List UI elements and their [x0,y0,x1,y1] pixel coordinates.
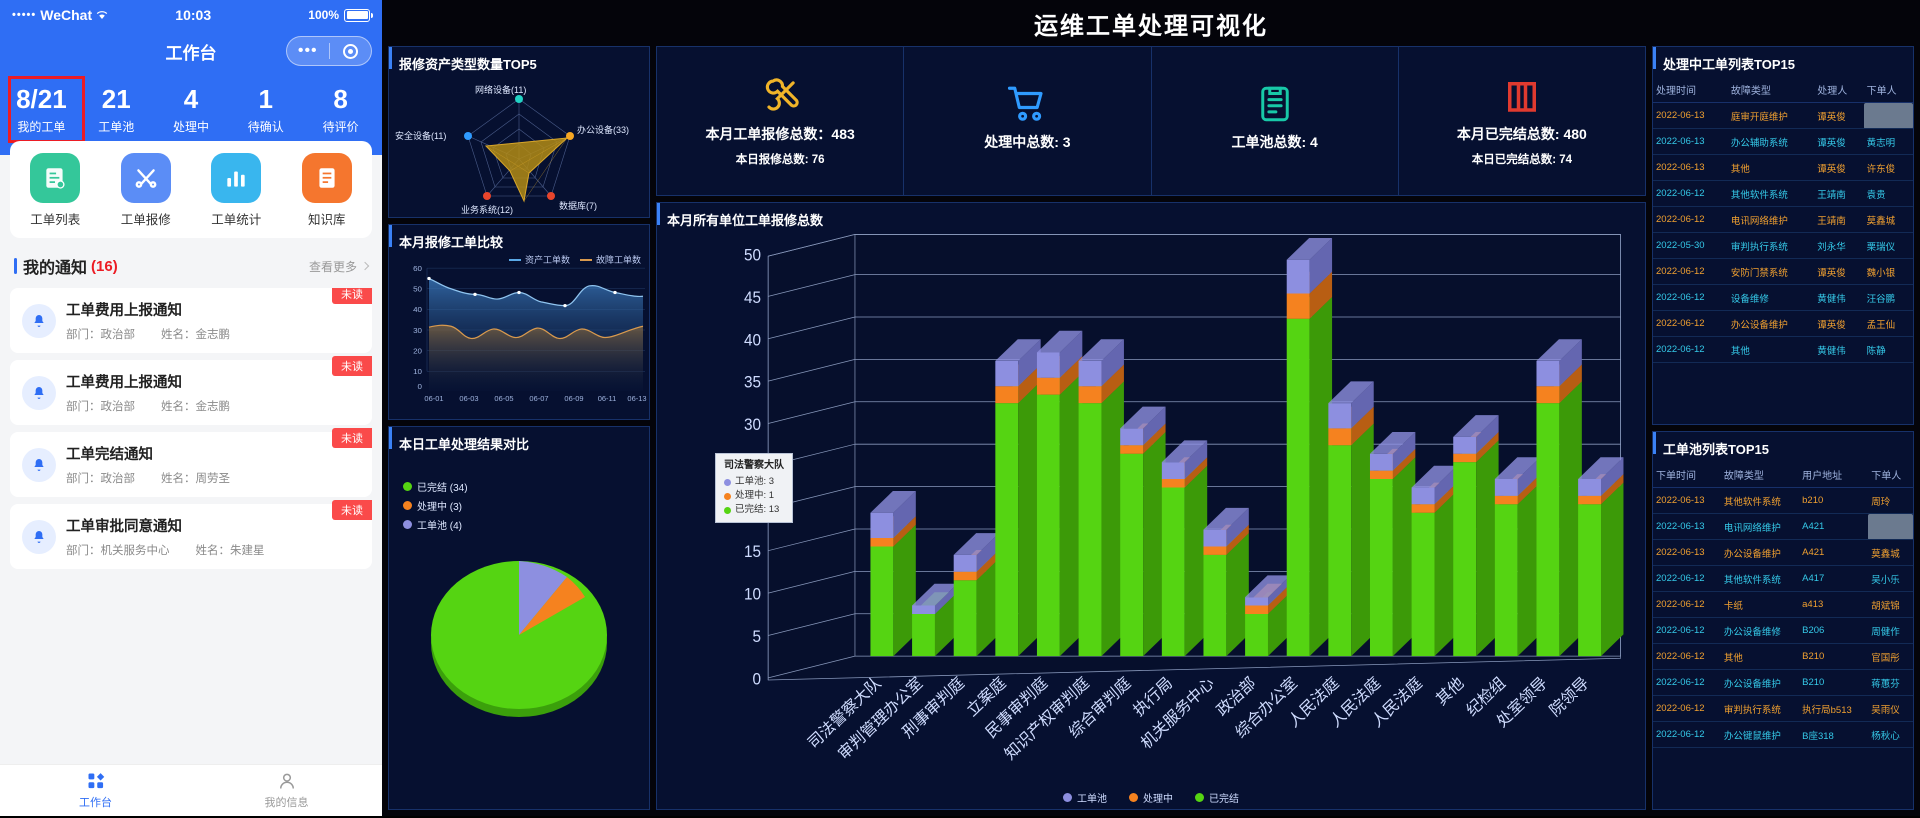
bar-segment [1162,487,1185,656]
tooltip-row: 已完结: 13 [724,503,784,517]
tools-icon [121,153,171,203]
bar-segment [1578,479,1601,496]
view-more-label: 查看更多 [309,258,357,275]
name-value: 金志鹏 [196,401,231,413]
quick-action-label: 工单报修 [101,209,192,228]
dept-field: 部门：机关服务中心 [66,542,170,558]
stat-label: 待确认 [228,118,303,135]
bar-segment [1162,462,1185,479]
stat-value: 8 [303,82,378,116]
svg-text:0: 0 [418,382,422,391]
dashboard: 运维工单处理可视化 报修资产类型数量TOP5 [382,0,1920,816]
table-cell: 审判执行系统 [1721,696,1799,722]
table-cell: 2022-06-13 [1653,103,1728,129]
legend-item-finished: 已完结 (34) [403,479,468,494]
column-header: 故障类型 [1728,77,1814,103]
table-cell: 2022-05-30 [1653,233,1728,259]
table-row[interactable]: 2022-06-12其他黄健伟陈静 [1653,337,1913,363]
table-cell: 莫鑫城 [1868,540,1913,566]
dept-value: 政治部 [101,473,136,485]
page-title: 工作台 [166,39,217,64]
svg-text:06-09: 06-09 [564,394,583,403]
bar-segment [1079,403,1102,656]
name-field: 姓名：金志鹏 [161,326,230,342]
name-value: 周劳圣 [196,473,231,485]
line-title: 本月报修工单比较 [389,225,649,255]
table-cell: 汪谷鹏 [1864,285,1913,311]
stat-pending-review[interactable]: 8 待评价 [303,82,378,135]
tab-bar: 工作台 我的信息 [0,764,382,816]
table-row[interactable]: 2022-06-12审判执行系统执行局b513吴雨仪 [1653,696,1913,722]
phone-mockup: ••••• WeChat 10:03 100% 工作台 ••• 8/21 我的工… [0,0,382,816]
table-cell: 2022-06-12 [1653,285,1728,311]
tab-label: 我的信息 [265,794,309,810]
radar-label-network: 网络设备(11) [475,83,526,96]
table-cell: 2022-06-12 [1653,618,1721,644]
svg-text:40: 40 [744,332,761,350]
table-cell: 王靖南 [1814,207,1863,233]
svg-text:40: 40 [413,305,422,314]
table-cell: 办公设备维护 [1728,311,1814,337]
bar-segment [954,572,977,580]
table-cell: B210 [1799,644,1868,670]
bar-segment [1203,555,1226,656]
table-row[interactable]: 2022-06-12其他软件系统王靖南袁贵 [1653,181,1913,207]
bar-svg: 504540 353025 201510 50 司法警察大队审判管理办公室刑事审… [661,229,1641,805]
stat-label: 待评价 [303,118,378,135]
stat-processing[interactable]: 4 处理中 [154,82,229,135]
quick-action-order-list[interactable]: 工单列表 [10,153,101,228]
bar-segment [912,606,935,614]
stat-value: 4 [154,82,229,116]
battery-icon [344,9,370,22]
table-row[interactable]: 2022-06-13其他软件系统b210周玲 [1653,488,1913,514]
legend-item-processing: 处理中 (3) [403,498,468,513]
table-header-row: 下单时间故障类型用户地址下单人 [1653,462,1913,488]
bar-category-label: 院领导 [1546,673,1592,720]
radar-label-security: 安全设备(11) [395,129,446,142]
table-cell: 王靖南 [1814,181,1863,207]
table-cell: a413 [1799,592,1868,618]
name-label: 姓名： [161,329,196,341]
name-field: 姓名：朱建星 [196,542,265,558]
table-row[interactable]: 2022-06-12卡纸a413胡斌锦 [1653,592,1913,618]
table-cell: 胡斌锦 [1868,592,1913,618]
bar-segment [1370,471,1393,479]
notification-meta: 部门：政治部 姓名：周劳圣 [66,470,230,486]
table-cell: 办公设备维护 [1721,670,1799,696]
bar-segment [1162,479,1185,487]
battery-percent: 100% [308,8,339,22]
bar-segment [1453,454,1476,462]
radar-point-office [566,132,574,140]
table-cell: 2022-06-12 [1653,592,1721,618]
svg-text:45: 45 [744,290,761,308]
pie-legend: 已完结 (34) 处理中 (3) 工单池 (4) [403,479,468,536]
bar-panel: 本月所有单位工单报修总数 [656,202,1646,810]
table-row[interactable]: 2022-05-30审判执行系统刘永华栗瑞仪 [1653,233,1913,259]
tab-label: 工作台 [79,794,112,810]
table-row[interactable]: 2022-06-13电讯网络维护A421车 [1653,514,1913,540]
name-label: 姓名： [161,401,196,413]
document-list-icon [30,153,80,203]
tooltip-label: 工单池: 3 [735,475,774,489]
list-item[interactable]: 工单审批同意通知 部门：机关服务中心 姓名：朱建星 未读 [10,504,372,569]
table-header-row: 处理时间故障类型处理人下单人 [1653,77,1913,103]
legend-item-asset: 资产工单数 [509,253,570,266]
column-header: 处理时间 [1653,77,1728,103]
dashboard-title: 运维工单处理可视化 [388,0,1914,46]
tooltip-title: 司法警察大队 [724,459,784,473]
bar-segment [1287,319,1310,656]
table-cell: 其他软件系统 [1721,488,1799,514]
table-cell: 办公设备维修 [1721,618,1799,644]
tooltip-label: 已完结: 13 [735,503,779,517]
table-cell: 2022-06-13 [1653,540,1721,566]
dashboard-body: 报修资产类型数量TOP5 [388,46,1914,810]
table-cell: 2022-06-12 [1653,670,1721,696]
close-target-icon[interactable] [330,44,372,59]
quick-action-repair[interactable]: 工单报修 [101,153,192,228]
svg-text:0: 0 [753,671,762,689]
table-row[interactable]: 2022-06-13办公辅助系统谭英俊黄志明 [1653,129,1913,155]
table-cell: 设备维修 [1728,285,1814,311]
radar-point-security [464,132,472,140]
table-cell: 黄志明 [1864,129,1913,155]
bar-segment [1037,353,1060,378]
table-cell: A421 [1799,540,1868,566]
dashboard-left-column: 报修资产类型数量TOP5 [388,46,650,810]
tab-my-info[interactable]: 我的信息 [191,765,382,816]
bar-segment [1079,386,1102,403]
notifications-count: (16) [91,258,118,275]
table-row[interactable]: 2022-06-12办公设备维护B210蒋蕙芬 [1653,670,1913,696]
table-cell: 蒋蕙芬 [1868,670,1913,696]
list-item-body: 工单完结通知 部门：政治部 姓名：周劳圣 [66,443,230,486]
table-cell: 2022-06-12 [1653,722,1721,748]
bar-segment [995,386,1018,403]
table-cell: 周玲 [1868,488,1913,514]
quick-action-label: 工单统计 [191,209,282,228]
pie-panel: 本日工单处理结果对比 已完结 (34) 处理中 (3) 工单池 (4) [388,426,650,810]
bar-segment [1245,606,1268,614]
notification-meta: 部门：政治部 姓名：金志鹏 [66,398,230,414]
table-cell: 2022-06-12 [1653,181,1728,207]
bar-segment [1495,479,1518,496]
bar-segment [1495,504,1518,656]
kpi-processing: 处理中总数: 3 [904,47,1151,195]
radar-chart: 网络设备(11) 办公设备(33) 数据库(7) 业务系统(12) 安全设备(1… [389,77,649,225]
bar-segment [1453,462,1476,656]
table-cell: 吴小乐 [1868,566,1913,592]
bar-segment [1328,445,1351,656]
table-row[interactable]: 2022-06-12设备维修黄健伟汪谷鹏 [1653,285,1913,311]
notifications-list: 工单费用上报通知 部门：政治部 姓名：金志鹏 未读 工单费用上报通知 部门：政治… [0,288,382,764]
radar-label-business: 业务系统(12) [461,203,513,216]
table-cell: 谭英俊 [1814,103,1863,129]
bar-segment [1245,597,1268,605]
list-item[interactable]: 工单费用上报通知 部门：政治部 姓名：金志鹏 未读 [10,360,372,425]
bar-category-label: 机关服务中心 [1138,674,1218,753]
column-header: 下单时间 [1653,462,1721,488]
table-cell: 电讯网络维护 [1728,207,1814,233]
kpi-primary: 本月工单报修总数：483 [705,124,854,144]
table-cell: 其他软件系统 [1721,566,1799,592]
user-icon [277,771,297,791]
radar-label-database: 数据库(7) [559,199,597,212]
table-row[interactable]: 2022-06-12办公设备维修B206周健作 [1653,618,1913,644]
table-cell: 电讯网络维护 [1721,514,1799,540]
view-more-link[interactable]: 查看更多 [309,258,368,275]
bar-segment [1370,454,1393,471]
bar-segment [1120,454,1143,656]
table-cell: 2022-06-13 [1653,129,1728,155]
legend-label: 处理中 (3) [417,498,462,513]
more-icon[interactable]: ••• [287,46,329,56]
tooltip-row: 处理中: 1 [724,489,784,503]
table-cell: 杨秋心 [1868,722,1913,748]
line-svg: 605040 302010 0 [389,255,649,405]
bar-segment [870,538,893,546]
status-time: 10:03 [78,7,308,23]
list-item[interactable]: 工单完结通知 部门：政治部 姓名：周劳圣 未读 [10,432,372,497]
bar-segment [1287,260,1310,294]
bar-segment [1601,483,1623,657]
bar-segment [1203,530,1226,547]
legend-label: 工单池 [1077,790,1107,805]
cart-icon [1006,83,1048,125]
dept-value: 政治部 [101,329,136,341]
stat-label: 处理中 [154,118,229,135]
bar-segment [1037,378,1060,395]
bell-icon [22,448,56,482]
table-cell: 魏小银 [1864,259,1913,285]
list-item[interactable]: 工单费用上报通知 部门：政治部 姓名：金志鹏 未读 [10,288,372,353]
pool-table: 下单时间故障类型用户地址下单人 2022-06-13其他软件系统b210周玲20… [1653,462,1913,748]
svg-text:35: 35 [744,374,761,392]
table-cell: 卡纸 [1721,592,1799,618]
column-header: 故障类型 [1721,462,1799,488]
bell-icon [22,304,56,338]
wechat-capsule[interactable]: ••• [286,36,372,66]
table-cell: 其他 [1721,644,1799,670]
notifications-title: 我的通知 [23,254,87,278]
kpi-secondary: 本日已完结总数: 74 [1472,151,1572,167]
table-cell: B210 [1799,670,1868,696]
legend-item-processing: 处理中 [1129,790,1173,805]
dashboard-right-column: 处理中工单列表TOP15 处理时间故障类型处理人下单人 2022-06-13庭审… [1652,46,1914,810]
table-row[interactable]: 2022-06-12电讯网络维护王靖南莫鑫城 [1653,207,1913,233]
dept-label: 部门： [66,401,101,413]
table-cell: 黄健伟 [1814,337,1863,363]
table-cell: 2022-06-12 [1653,696,1721,722]
tab-workbench[interactable]: 工作台 [0,765,191,816]
stat-value: 1 [228,82,303,116]
column-header: 下单人 [1864,77,1913,103]
notification-title: 工单费用上报通知 [66,371,230,392]
table-cell: 办公键鼠维护 [1721,722,1799,748]
tooltip-label: 处理中: 1 [735,489,774,503]
svg-text:50: 50 [413,285,422,294]
kpi-primary: 本月已完结总数: 480 [1457,124,1587,144]
table-cell: b210 [1799,488,1868,514]
bar-segment [1412,504,1435,512]
notification-meta: 部门：机关服务中心 姓名：朱建星 [66,542,265,558]
bar-segment [870,513,893,538]
svg-text:60: 60 [413,264,422,273]
legend-label: 资产工单数 [525,253,570,266]
table-cell: 办公设备维护 [1721,540,1799,566]
book-icon [302,153,352,203]
wrench-icon [759,75,801,117]
list-item-body: 工单审批同意通知 部门：机关服务中心 姓名：朱建星 [66,515,265,558]
table-cell: 2022-06-12 [1653,207,1728,233]
svg-text:06-03: 06-03 [459,394,478,403]
dept-value: 机关服务中心 [101,545,170,557]
dept-field: 部门：政治部 [66,398,135,414]
svg-text:06-01: 06-01 [424,394,443,403]
table-cell: 孟王仙 [1864,311,1913,337]
table-row[interactable]: 2022-06-12办公键鼠维护B座318杨秋心 [1653,722,1913,748]
kpi-primary: 处理中总数: 3 [984,132,1070,152]
bar-segment [1287,293,1310,318]
column-header: 用户地址 [1799,462,1868,488]
notifications-header: 我的通知 (16) 查看更多 [0,238,382,288]
status-badge: 未读 [332,356,372,376]
bar-segment [995,361,1018,386]
bar-segment [1453,437,1476,454]
phone-header: ••••• WeChat 10:03 100% 工作台 ••• 8/21 我的工… [0,0,382,155]
table-cell: 陈静 [1864,337,1913,363]
table-cell: 官国彤 [1868,644,1913,670]
tooltip-row: 工单池: 3 [724,475,784,489]
table2-title: 工单池列表TOP15 [1653,432,1913,462]
quick-action-knowledge[interactable]: 知识库 [282,153,373,228]
table-cell: 莫鑫城 [1864,207,1913,233]
dept-field: 部门：政治部 [66,470,135,486]
svg-text:06-13: 06-13 [627,394,646,403]
table-cell: 2022-06-12 [1653,311,1728,337]
pie-title: 本日工单处理结果对比 [389,427,649,457]
dept-label: 部门： [66,545,101,557]
legend-item-fault: 故障工单数 [580,253,641,266]
trash-icon [1501,75,1543,117]
dashboard-middle-column: 本月工单报修总数：483 本日报修总数: 76 处理中总数: 3 工单池总数: … [656,46,1646,810]
table-row[interactable]: 2022-06-12其他B210官国彤 [1653,644,1913,670]
table-cell: 执行局b513 [1799,696,1868,722]
legend-label: 处理中 [1143,790,1173,805]
table-row[interactable]: 2022-06-13其他谭英俊许东俊 [1653,155,1913,181]
svg-text:15: 15 [744,544,761,562]
kpi-primary: 工单池总数: 4 [1231,132,1317,152]
bar-legend: 工单池 处理中 已完结 [657,790,1645,805]
table-row[interactable]: 2022-06-12安防门禁系统谭英俊魏小银 [1653,259,1913,285]
bell-icon [22,376,56,410]
table-row[interactable]: 2022-06-12办公设备维护谭英俊孟王仙 [1653,311,1913,337]
table-cell: 谭英俊 [1814,259,1863,285]
radar-title: 报修资产类型数量TOP5 [389,47,649,77]
table-cell: 黄健伟 [1814,285,1863,311]
radar-point-database [547,192,555,200]
bar-segment [1536,403,1559,656]
table-cell: 栗瑞仪 [1864,233,1913,259]
svg-text:5: 5 [753,629,762,647]
legend-label: 已完结 (34) [417,479,468,494]
quick-actions: 工单列表 工单报修 工单统计 知识库 [10,141,372,238]
kpi-pool: 工单池总数: 4 [1152,47,1399,195]
name-label: 姓名： [196,545,231,557]
radar-panel: 报修资产类型数量TOP5 [388,46,650,218]
table-row[interactable]: 2022-06-12其他软件系统A417吴小乐 [1653,566,1913,592]
nav-bar: 工作台 ••• [0,30,382,72]
quick-action-statistics[interactable]: 工单统计 [191,153,282,228]
radar-point-network [515,95,523,103]
status-bar: ••••• WeChat 10:03 100% [0,0,382,30]
dept-field: 部门：政治部 [66,326,135,342]
table-cell: 2022-06-13 [1653,155,1728,181]
table-cell: 周健作 [1868,618,1913,644]
table-cell: 谭英俊 [1814,311,1863,337]
bar-segment [1412,487,1435,504]
table-cell: 庭审开庭维护 [1728,103,1814,129]
table-row[interactable]: 2022-06-13办公设备维护A421莫鑫城 [1653,540,1913,566]
table-row[interactable]: 2022-06-13庭审开庭维护谭英俊黄 [1653,103,1913,129]
radar-point-business [483,192,491,200]
chevron-right-icon [361,262,369,270]
notification-title: 工单完结通知 [66,443,230,464]
legend-item-pool: 工单池 [1063,790,1107,805]
grid-icon [86,771,106,791]
table-cell: 其他软件系统 [1728,181,1814,207]
name-label: 姓名： [161,473,196,485]
bar-segment [1536,386,1559,403]
bar-segment [1245,614,1268,656]
notification-title: 工单费用上报通知 [66,299,230,320]
stat-label: 我的工单 [4,118,79,135]
legend-item-pool: 工单池 (4) [403,517,468,532]
table-cell: 2022-06-13 [1653,488,1721,514]
stat-value: 8/21 [4,82,79,116]
table-cell: 2022-06-12 [1653,259,1728,285]
table-cell: 2022-06-13 [1653,514,1721,540]
stat-pending-confirm[interactable]: 1 待确认 [228,82,303,135]
legend-label: 工单池 (4) [417,517,462,532]
status-badge: 未读 [332,288,372,304]
table-cell: 其他 [1728,155,1814,181]
table-cell: 2022-06-12 [1653,644,1721,670]
svg-text:06-07: 06-07 [529,394,548,403]
notification-title: 工单审批同意通知 [66,515,265,536]
bar-chart-icon [211,153,261,203]
table-cell: A417 [1799,566,1868,592]
line-legend: 资产工单数 故障工单数 [509,253,641,266]
pool-table-panel: 工单池列表TOP15 下单时间故障类型用户地址下单人 2022-06-13其他软… [1652,431,1914,810]
bar-segment [1120,445,1143,453]
kpi-month-repairs: 本月工单报修总数：483 本日报修总数: 76 [657,47,904,195]
bar-tooltip: 司法警察大队 工单池: 3 处理中: 1 已完结: 13 [715,453,793,523]
stat-my-orders[interactable]: 8/21 我的工单 [4,82,79,135]
table-cell: 谭英俊 [1814,155,1863,181]
bar-segment [912,614,935,656]
kpi-completed: 本月已完结总数: 480 本日已完结总数: 74 [1399,47,1645,195]
table-cell: 其他 [1728,337,1814,363]
bar-chart: 504540 353025 201510 50 司法警察大队审判管理办公室刑事审… [661,229,1641,805]
stat-order-pool[interactable]: 21 工单池 [79,82,154,135]
svg-text:30: 30 [413,326,422,335]
kpi-secondary: 本日报修总数: 76 [736,151,825,167]
accent-bar [14,258,17,274]
radar-label-office: 办公设备(33) [577,123,629,136]
